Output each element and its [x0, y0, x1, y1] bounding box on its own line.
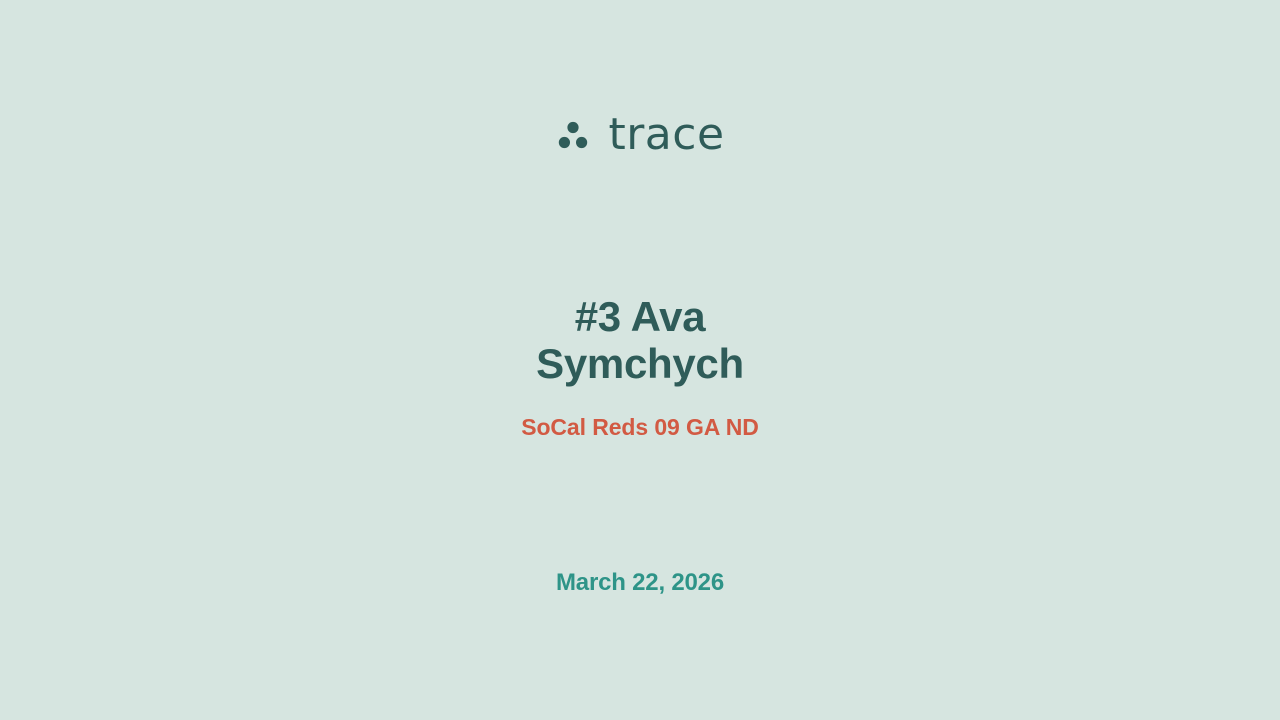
player-title-line-1: #3 Ava — [0, 296, 1280, 338]
brand-wordmark: trace — [608, 113, 724, 157]
date-block: March 22, 2026 — [0, 570, 1280, 596]
match-date: March 22, 2026 — [0, 570, 1280, 596]
three-dots-triangle-icon — [555, 117, 591, 153]
player-title-line-2: Symchych — [0, 343, 1280, 385]
title-slide: trace #3 Ava Symchych SoCal Reds 09 GA N… — [0, 0, 1280, 720]
brand-logo: trace — [0, 112, 1280, 157]
page-title: #3 Ava Symchych — [0, 296, 1280, 385]
team-subtitle: SoCal Reds 09 GA ND — [0, 385, 1280, 440]
player-title-block: #3 Ava Symchych SoCal Reds 09 GA ND — [0, 296, 1280, 440]
